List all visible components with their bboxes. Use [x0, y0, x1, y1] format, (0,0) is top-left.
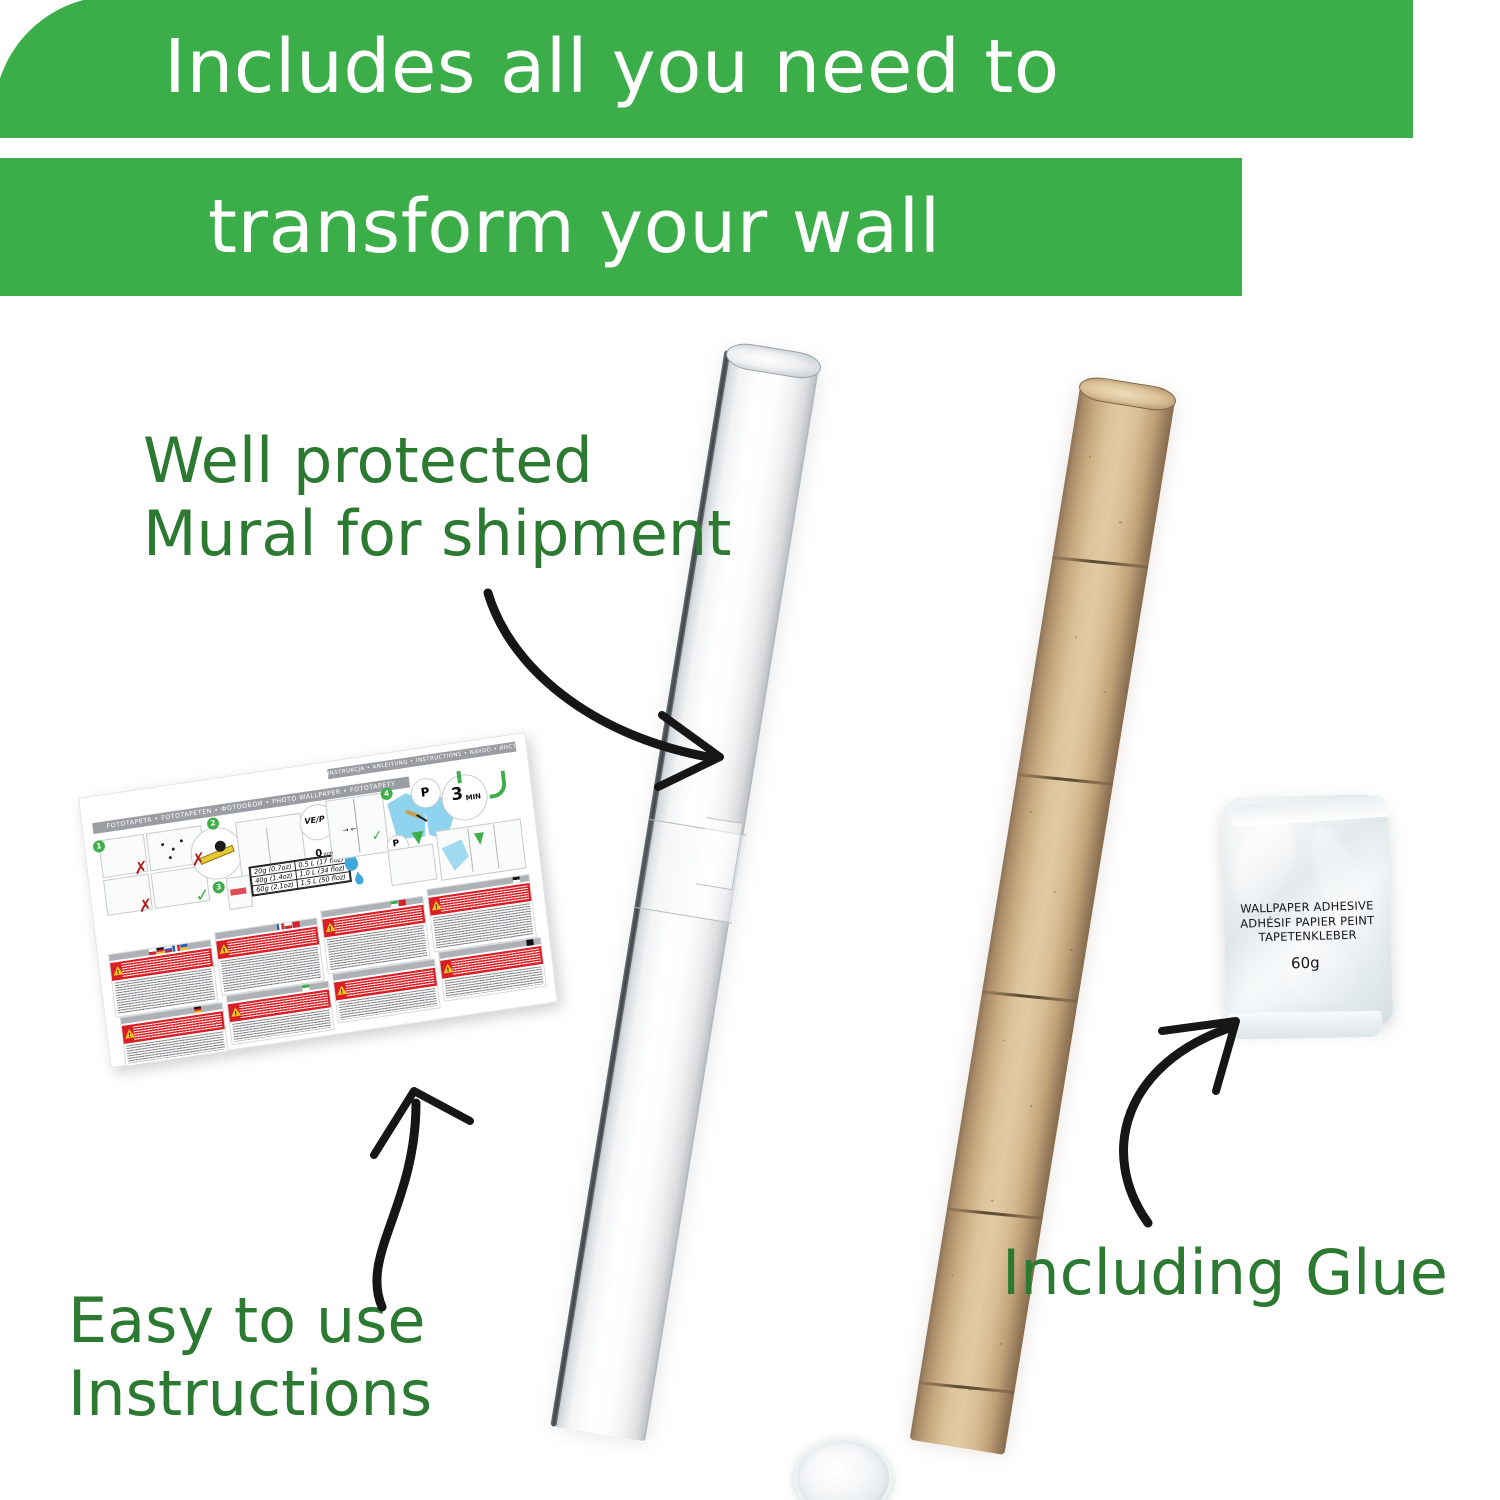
callout-label-instructions: Easy to use Instructions: [68, 1284, 432, 1430]
infographic-canvas: Includes all you need to transform your …: [0, 0, 1500, 1500]
check-mark: ✓: [195, 887, 211, 906]
headline-banner-1: Includes all you need to: [0, 0, 1413, 138]
step-badge-4: 4: [380, 787, 393, 801]
callout-label-glue: Including Glue: [1002, 1236, 1448, 1309]
headline-banner-2-text: transform your wall: [208, 184, 941, 270]
callout-label-mural: Well protected Mural for shipment: [143, 424, 732, 570]
glue-packet-bottom-seal: [1228, 1011, 1382, 1040]
tube-seam-line: [919, 1381, 1015, 1394]
glue-weight-label: 60g: [1225, 952, 1385, 974]
zero-label: 0: [315, 848, 323, 860]
step-badge-3: 3: [212, 881, 225, 895]
mural-roll-top-cap: [724, 340, 823, 381]
timer-value: 3: [450, 784, 464, 806]
tube-seam-line: [1052, 556, 1148, 569]
cross-mark: ✗: [190, 851, 206, 870]
headline-banner-1-text: Includes all you need to: [164, 24, 1060, 110]
glue-packet-top-seal: [1231, 794, 1390, 827]
cross-mark: ✗: [133, 860, 149, 879]
glue-packet: WALLPAPER ADHESIVE ADHÉSIF PAPIER PEINT …: [1216, 784, 1398, 1056]
tube-seam-line: [1017, 773, 1113, 786]
water-drop-icon-small: [354, 873, 364, 885]
glue-highlight: [1282, 941, 1360, 1011]
instruction-sheet: INSTRUKCJA • ANLEITUNG • INSTRUCTIONS • …: [78, 732, 561, 1096]
instruction-sheet-paper: INSTRUKCJA • ANLEITUNG • INSTRUCTIONS • …: [78, 732, 558, 1068]
tube-seam-line: [947, 1208, 1043, 1221]
shipping-tube: [640, 385, 1260, 1495]
glue-packet-body: WALLPAPER ADHESIVE ADHÉSIF PAPIER PEINT …: [1221, 794, 1393, 1028]
shipping-tube-top-cap: [1077, 374, 1178, 413]
cross-mark: ✗: [138, 897, 154, 916]
p-label-top: P: [420, 785, 430, 800]
tube-seam-line: [982, 990, 1078, 1003]
panel-4: [387, 844, 437, 886]
glue-label-line-3: TAPETENKLEBER: [1224, 927, 1390, 946]
headline-banner-2: transform your wall: [0, 158, 1242, 296]
